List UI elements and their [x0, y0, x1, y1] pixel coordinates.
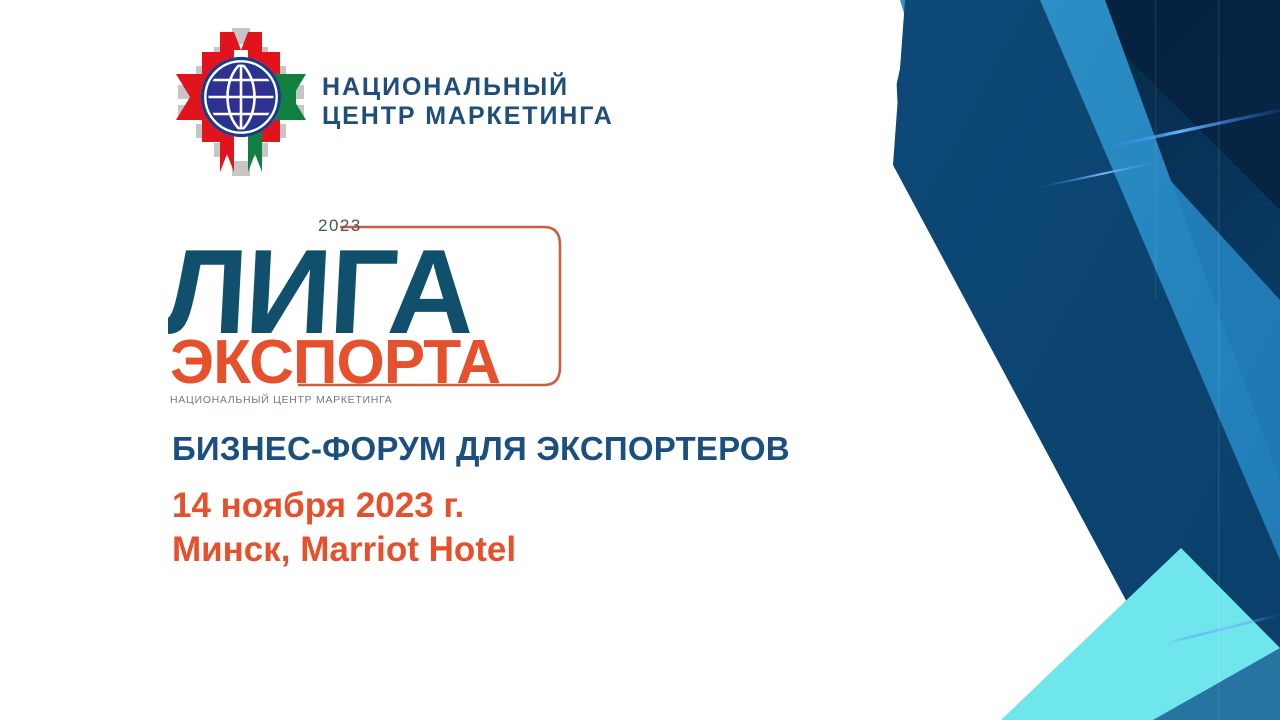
event-venue: Минск, Marriot Hotel	[172, 528, 516, 572]
slide-headline: БИЗНЕС-ФОРУМ ДЛЯ ЭКСПОРТЕРОВ	[172, 430, 790, 468]
liga-exporta-logo: 2023 ЛИГА ЭКСПОРТА НАЦИОНАЛЬНЫЙ ЦЕНТР МА…	[168, 205, 638, 415]
logo-tagline: НАЦИОНАЛЬНЫЙ ЦЕНТР МАРКЕТИНГА	[170, 393, 392, 406]
organization-name: НАЦИОНАЛЬНЫЙ ЦЕНТР МАРКЕТИНГА	[322, 73, 614, 132]
presentation-slide: НАЦИОНАЛЬНЫЙ ЦЕНТР МАРКЕТИНГА 2023 ЛИГА …	[0, 0, 1280, 720]
org-name-line-1: НАЦИОНАЛЬНЫЙ	[322, 73, 614, 103]
belarus-ornament-globe-emblem	[176, 28, 306, 176]
org-name-line-2: ЦЕНТР МАРКЕТИНГА	[322, 102, 614, 132]
event-date: 14 ноября 2023 г.	[172, 484, 516, 528]
organization-branding: НАЦИОНАЛЬНЫЙ ЦЕНТР МАРКЕТИНГА	[176, 28, 614, 176]
slide-content: НАЦИОНАЛЬНЫЙ ЦЕНТР МАРКЕТИНГА 2023 ЛИГА …	[0, 0, 1280, 720]
event-details: 14 ноября 2023 г. Минск, Marriot Hotel	[172, 484, 516, 573]
logo-word-exporta: ЭКСПОРТА	[170, 328, 500, 397]
